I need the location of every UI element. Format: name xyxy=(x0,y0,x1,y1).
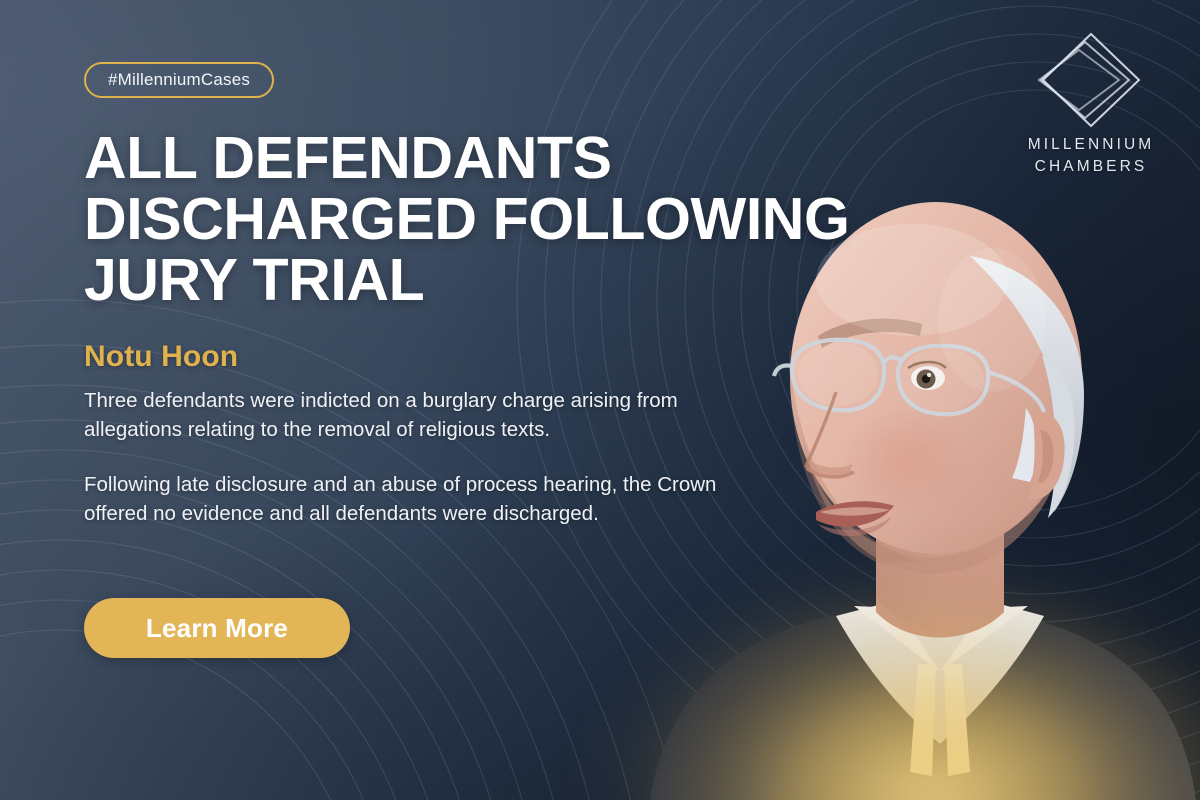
learn-more-button[interactable]: Learn More xyxy=(84,598,350,658)
body-paragraph-2: Following late disclosure and an abuse o… xyxy=(84,470,774,528)
brand-name-line-1: MILLENNIUM xyxy=(1006,134,1176,156)
brand-name: MILLENNIUM CHAMBERS xyxy=(1006,134,1176,178)
author-name: Notu Hoon xyxy=(84,340,238,374)
body-paragraph-1: Three defendants were indicted on a burg… xyxy=(84,386,774,444)
content-column: #MillenniumCases All Defendants Discharg… xyxy=(84,0,804,800)
promotional-graphic: MILLENNIUM CHAMBERS #MillenniumCases All… xyxy=(0,0,1200,800)
hashtag-badge[interactable]: #MillenniumCases xyxy=(84,62,274,98)
nested-diamond-icon xyxy=(1006,26,1176,134)
page-title: All Defendants Discharged Following Jury… xyxy=(84,128,944,310)
brand-logo[interactable]: MILLENNIUM CHAMBERS xyxy=(1006,26,1176,178)
brand-name-line-2: CHAMBERS xyxy=(1006,156,1176,178)
